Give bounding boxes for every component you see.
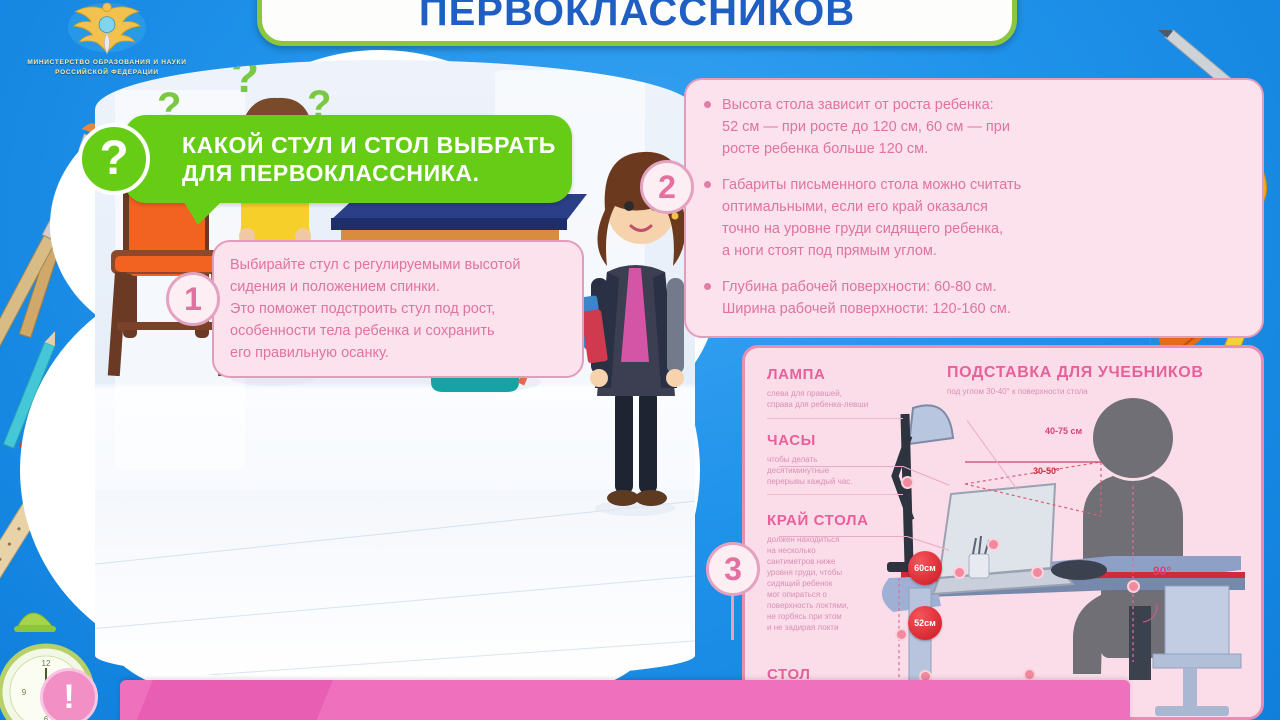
measurement-30-50-deg: 30-50° (1033, 466, 1060, 476)
question-line-1: КАКОЙ СТУЛ И СТОЛ ВЫБРАТЬ (182, 131, 556, 159)
tip2-b1-line-2: 52 см — при росте до 120 см, 60 см — при (722, 116, 1244, 138)
diagram-label-clock-lines: чтобы делать десятиминутные перерывы каж… (767, 454, 853, 487)
speech-bubble-tail (182, 199, 224, 225)
tip2-bullet-list: Высота стола зависит от роста ребенка: 5… (704, 94, 1244, 320)
edge-line-4: уровня груди, чтобы (767, 567, 849, 578)
edge-line-9: и не задирая локти (767, 622, 849, 633)
svg-text:?: ? (231, 60, 259, 102)
diagram-label-stand-title: ПОДСТАВКА ДЛЯ УЧЕБНИКОВ (947, 364, 1204, 382)
tip-number-badge-2: 2 (640, 160, 694, 214)
infographic-poster: 123 69 (0, 0, 1280, 720)
diagram-label-stand-lines: под углом 30-40° к поверхности стола (947, 386, 1088, 397)
diagram-label-lamp-title: ЛАМПА (767, 366, 825, 383)
tip1-line-1: Выбирайте стул с регулируемыми высотой (230, 254, 566, 276)
diagram-label-clock-title: ЧАСЫ (767, 432, 816, 449)
edge-line-6: мог опираться о (767, 589, 849, 600)
tip-number-badge-1: 1 (166, 272, 220, 326)
tip-card-2: Высота стола зависит от роста ребенка: 5… (684, 78, 1264, 338)
pin-chair-back (1127, 580, 1140, 593)
bottom-ribbon (120, 680, 1130, 720)
tip2-b2-line-4: а ноги стоят под прямым углом. (722, 240, 1244, 262)
pin-lamp-head (901, 476, 914, 489)
edge-line-5: сидящий ребенок (767, 578, 849, 589)
bullet-dot-icon (704, 283, 711, 290)
diagram-rule-lamp (767, 418, 903, 419)
exclamation-badge-icon: ! (40, 668, 98, 720)
tip2-b2-line-2: оптимальными, если его край оказался (722, 196, 1244, 218)
bullet-dot-icon (704, 101, 711, 108)
tip2-bullet-1: Высота стола зависит от роста ребенка: 5… (704, 94, 1244, 160)
stand-line-1: под углом 30-40° к поверхности стола (947, 386, 1088, 397)
tip1-line-4: особенности тела ребенка и сохранить (230, 320, 566, 342)
measurement-90-deg: 90° (1153, 564, 1171, 578)
question-speech-bubble: ? КАКОЙ СТУЛ И СТОЛ ВЫБРАТЬ ДЛЯ ПЕРВОКЛА… (124, 115, 572, 203)
lamp-line-1: слева для правшей, (767, 388, 868, 399)
lamp-line-2: справа для ребенка-левши (767, 399, 868, 410)
tip-card-1: Выбирайте стул с регулируемыми высотой с… (212, 240, 584, 378)
pin-table-top (987, 538, 1000, 551)
tip2-b3-line-1: Глубина рабочей поверхности: 60-80 см. (722, 276, 1244, 298)
edge-line-3: сантиметров ниже (767, 556, 849, 567)
question-line-2: ДЛЯ ПЕРВОКЛАССНИКА. (182, 159, 556, 187)
workstation-diagram-panel: ЛАМПА слева для правшей, справа для ребе… (742, 345, 1264, 720)
tip2-bullet-3: Глубина рабочей поверхности: 60-80 см. Ш… (704, 276, 1244, 320)
pin-seat-height (1031, 566, 1044, 579)
tip1-line-3: Это поможет подстроить стул под рост, (230, 298, 566, 320)
tip-number-badge-3: 3 (706, 542, 760, 596)
tip2-b1-line-1: Высота стола зависит от роста ребенка: (722, 94, 1244, 116)
measurement-badge-60cm: 60см (908, 551, 942, 585)
measurement-badge-52cm: 52см (908, 606, 942, 640)
diagram-rule-clock (767, 494, 903, 495)
tip-3-connector-stem (731, 596, 734, 640)
tip2-b1-line-3: росте ребенка больше 120 см. (722, 138, 1244, 160)
pin-desk-edge (953, 566, 966, 579)
clock-line-2: десятиминутные (767, 465, 853, 476)
measurement-40-75cm: 40-75 см (1045, 426, 1082, 436)
edge-line-8: не горбясь при этом (767, 611, 849, 622)
laptop (933, 484, 1073, 594)
ribbon-left-wedge (135, 680, 333, 720)
clock-line-3: перерывы каждый час. (767, 476, 853, 487)
edge-line-1: должен находиться (767, 534, 849, 545)
diagram-label-edge-lines: должен находиться на несколько сантиметр… (767, 534, 849, 633)
pin-desk-leg (895, 628, 908, 641)
tip1-line-2: сидения и положением спинки. (230, 276, 566, 298)
bullet-dot-icon (704, 181, 711, 188)
edge-line-7: поверхность локтями, (767, 600, 849, 611)
tip2-bullet-2: Габариты письменного стола можно считать… (704, 174, 1244, 262)
svg-text:9: 9 (22, 688, 27, 697)
diagram-label-lamp-lines: слева для правшей, справа для ребенка-ле… (767, 388, 868, 410)
tip1-line-5: его правильную осанку. (230, 342, 566, 364)
tip2-b2-line-1: Габариты письменного стола можно считать (722, 174, 1244, 196)
tip2-b2-line-3: точно на уровне груди сидящего ребенка, (722, 218, 1244, 240)
diagram-label-edge-title: КРАЙ СТОЛА (767, 512, 869, 529)
page-title: ПЕРВОКЛАССНИКОВ (419, 0, 855, 35)
question-mark-badge: ? (78, 123, 150, 195)
question-bubble-text: КАКОЙ СТУЛ И СТОЛ ВЫБРАТЬ ДЛЯ ПЕРВОКЛАСС… (182, 131, 556, 187)
tip2-b3-line-2: Ширина рабочей поверхности: 120-160 см. (722, 298, 1244, 320)
edge-line-2: на несколько (767, 545, 849, 556)
clock-line-1: чтобы делать (767, 454, 853, 465)
